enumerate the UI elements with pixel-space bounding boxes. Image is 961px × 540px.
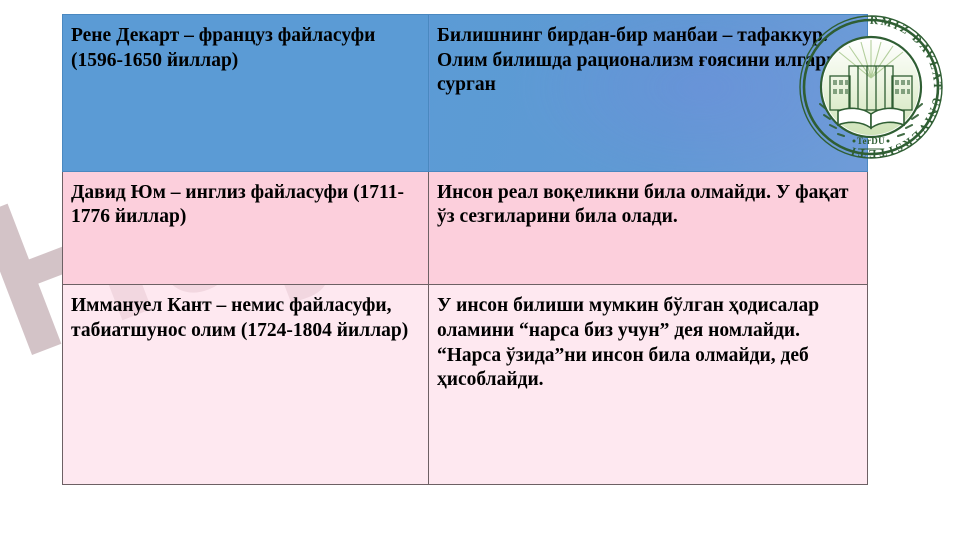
table-row: Давид Юм – инглиз файласуфи (1711-1776 й…: [63, 171, 868, 285]
table-cell-idea: Инсон реал воқеликни била олмайди. У фақ…: [429, 171, 868, 285]
philosopher-idea-text: Инсон реал воқеликни била олмайди. У фақ…: [437, 181, 859, 230]
philosophers-table-container: Рене Декарт – француз файласуфи (1596-16…: [62, 14, 867, 485]
table-cell-philosopher: Давид Юм – инглиз файласуфи (1711-1776 й…: [63, 171, 429, 285]
philosopher-name-text: Рене Декарт – француз файласуфи (1596-16…: [71, 24, 420, 73]
philosopher-name-text: Давид Юм – инглиз файласуфи (1711-1776 й…: [71, 181, 420, 230]
seal-abbreviation-text: TerDU: [857, 136, 885, 146]
table-row: Рене Декарт – француз файласуфи (1596-16…: [63, 15, 868, 172]
slide-canvas: Hujjat Рене Декарт – француз файласуфи (…: [0, 0, 961, 540]
university-seal-logo: TERMIZ DAVLAT UNIVERSITETI TerDU: [792, 8, 950, 166]
philosopher-idea-text: У инсон билиши мумкин бўлган ҳодисалар о…: [437, 294, 859, 392]
philosopher-name-text: Иммануел Кант – немис файласуфи, табиатш…: [71, 294, 420, 343]
philosophers-table: Рене Декарт – француз файласуфи (1596-16…: [62, 14, 868, 485]
table-row: Иммануел Кант – немис файласуфи, табиатш…: [63, 285, 868, 485]
table-cell-philosopher: Иммануел Кант – немис файласуфи, табиатш…: [63, 285, 429, 485]
table-cell-philosopher: Рене Декарт – француз файласуфи (1596-16…: [63, 15, 429, 172]
table-cell-idea: У инсон билиши мумкин бўлган ҳодисалар о…: [429, 285, 868, 485]
